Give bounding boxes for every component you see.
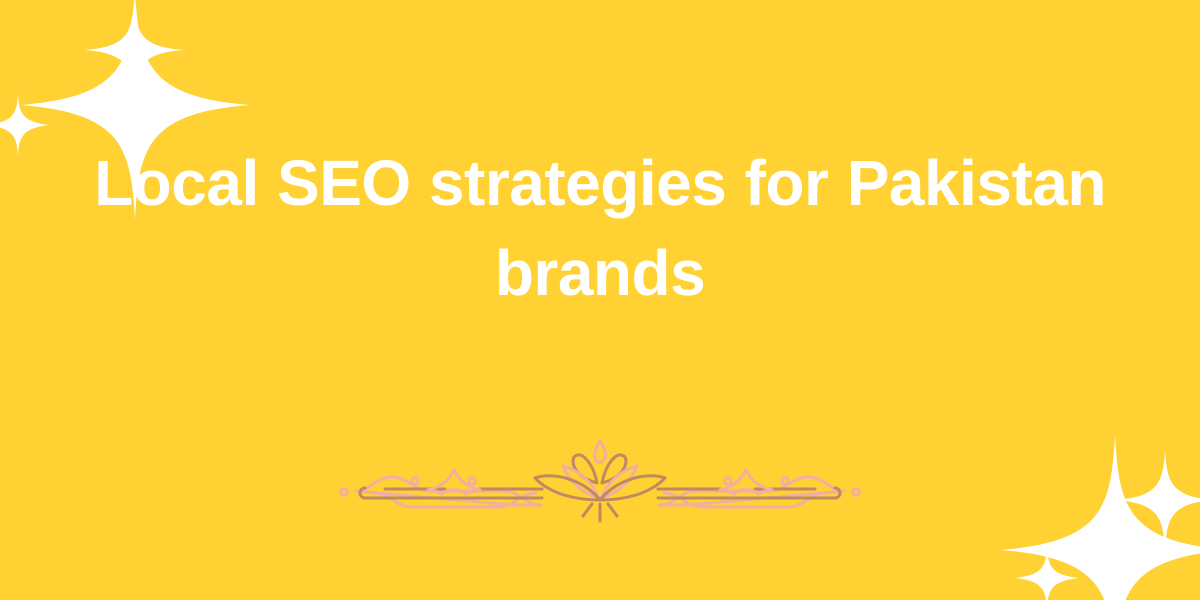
medium-sparkle-icon [84,0,184,100]
lotus-ray-right [608,504,617,516]
headline-block: Local SEO strategies for Pakistan brands [0,138,1200,318]
right-crown-motif [720,470,772,494]
lotus-top-bud [595,441,606,462]
right-dot-outer [853,489,859,495]
sparkle-cluster-bottom-right [990,440,1200,600]
left-dot-b [469,478,475,484]
right-dot-b [725,478,731,484]
small-sparkle-icon [1015,546,1079,600]
large-sparkle-icon [1000,435,1200,600]
page-title: Local SEO strategies for Pakistan brands [0,138,1200,318]
left-crown-motif [428,470,480,494]
right-dot-a [782,478,788,484]
medium-sparkle-icon [1115,450,1200,550]
left-dot-a [412,478,418,484]
banner-canvas: Local SEO strategies for Pakistan brands [0,0,1200,600]
lotus-ray-left [583,504,592,516]
lotus-divider-ornament [330,428,870,532]
left-dot-outer [341,489,347,495]
